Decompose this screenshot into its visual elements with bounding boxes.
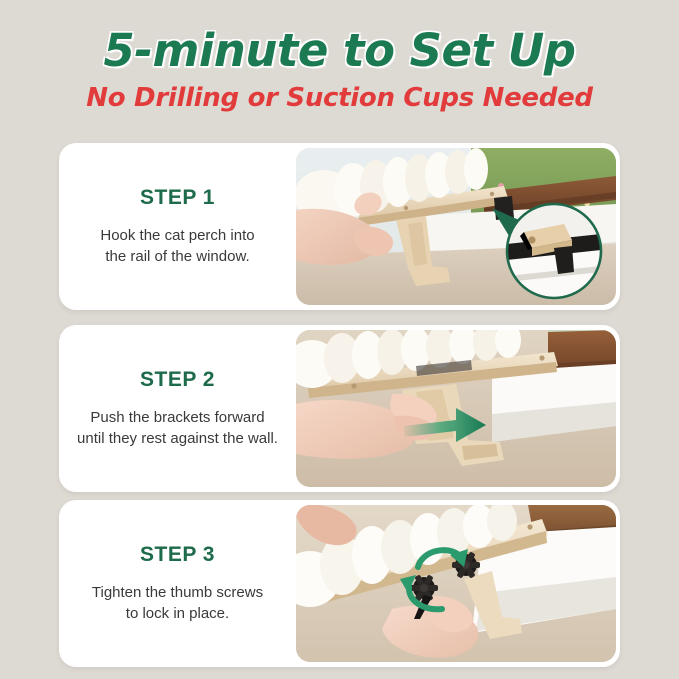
page-title: 5-minute to Set Up <box>0 28 679 73</box>
step-1-text-block: STEP 1 Hook the cat perch into the rail … <box>59 143 296 310</box>
step-2-text-block: STEP 2 Push the brackets forward until t… <box>59 325 296 492</box>
step-1-description: Hook the cat perch into the rail of the … <box>100 226 254 267</box>
step-1-photo <box>296 148 616 305</box>
page-subtitle: No Drilling or Suction Cups Needed <box>0 85 679 111</box>
step-card-1: STEP 1 Hook the cat perch into the rail … <box>59 143 620 310</box>
step-3-illustration <box>296 505 616 662</box>
step-3-label: STEP 3 <box>140 543 215 567</box>
step-card-3: STEP 3 Tighten the thumb screws to lock … <box>59 500 620 667</box>
step-2-label: STEP 2 <box>140 368 215 392</box>
step-1-label: STEP 1 <box>140 186 215 210</box>
header: 5-minute to Set Up No Drilling or Suctio… <box>0 28 679 111</box>
step-3-description: Tighten the thumb screws to lock in plac… <box>92 583 263 624</box>
step-2-photo <box>296 330 616 487</box>
step-2-description: Push the brackets forward until they res… <box>77 408 278 449</box>
step-3-photo <box>296 505 616 662</box>
step-2-illustration <box>296 330 616 487</box>
step-3-text-block: STEP 3 Tighten the thumb screws to lock … <box>59 500 296 667</box>
step-card-2: STEP 2 Push the brackets forward until t… <box>59 325 620 492</box>
step-1-illustration <box>296 148 616 305</box>
